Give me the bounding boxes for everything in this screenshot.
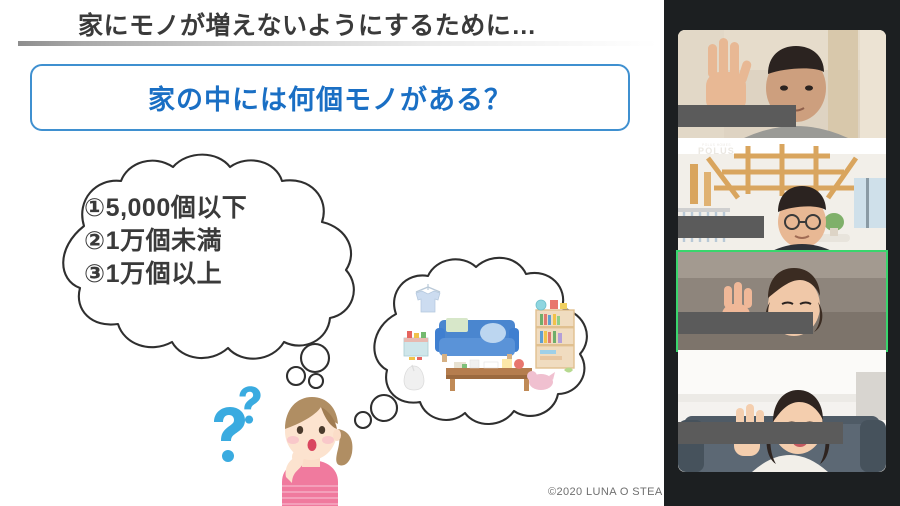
toy-box-icon [404, 331, 428, 360]
hanging-shirt-icon [416, 284, 440, 312]
video-feed [678, 252, 886, 350]
blue-sofa-icon [435, 318, 519, 362]
question-box: 家の中には何個モノがある？ [30, 64, 630, 131]
participant-name-bar [678, 312, 813, 334]
options-list: ①5,000個以下 ②1万個未満 ③1万個以上 [84, 192, 384, 291]
participant-tile[interactable] [678, 30, 886, 138]
cluttered-room-illustration [398, 276, 588, 401]
floor-bag-icon [404, 365, 424, 390]
video-conference-panel: POLUS HOMES POLUS [664, 0, 900, 506]
video-feed [678, 350, 886, 472]
list-item: ③1万個以上 [84, 258, 384, 291]
copyright-text: ©2020 LUNA O STEA [548, 486, 663, 498]
stuffed-toy-icon [527, 371, 555, 390]
list-item: ②1万個未満 [84, 225, 384, 258]
polus-watermark-main: POLUS [698, 146, 735, 156]
participant-tile[interactable] [678, 350, 886, 472]
list-item: ①5,000個以下 [84, 192, 384, 225]
title-divider [18, 41, 658, 46]
slide-with-video-panel: 家にモノが増えないようにするために… 家の中には何個モノがある？ ①5,000個… [0, 0, 900, 506]
participant-name-bar [678, 422, 843, 444]
participant-name-bar [678, 105, 796, 127]
presentation-slide: 家にモノが増えないようにするために… 家の中には何個モノがある？ ①5,000個… [0, 0, 664, 506]
participant-name-bar [678, 216, 764, 238]
participant-tile-active[interactable] [678, 252, 886, 350]
bookshelf-icon [536, 300, 574, 368]
thinking-woman-illustration [258, 385, 368, 506]
participant-tile[interactable]: POLUS HOMES POLUS [678, 138, 886, 252]
coffee-table-icon [446, 359, 532, 391]
polus-watermark: POLUS HOMES POLUS [698, 144, 735, 157]
page-title: 家にモノが増えないようにするために… [78, 6, 537, 42]
question-text: 家の中には何個モノがある？ [148, 78, 512, 117]
